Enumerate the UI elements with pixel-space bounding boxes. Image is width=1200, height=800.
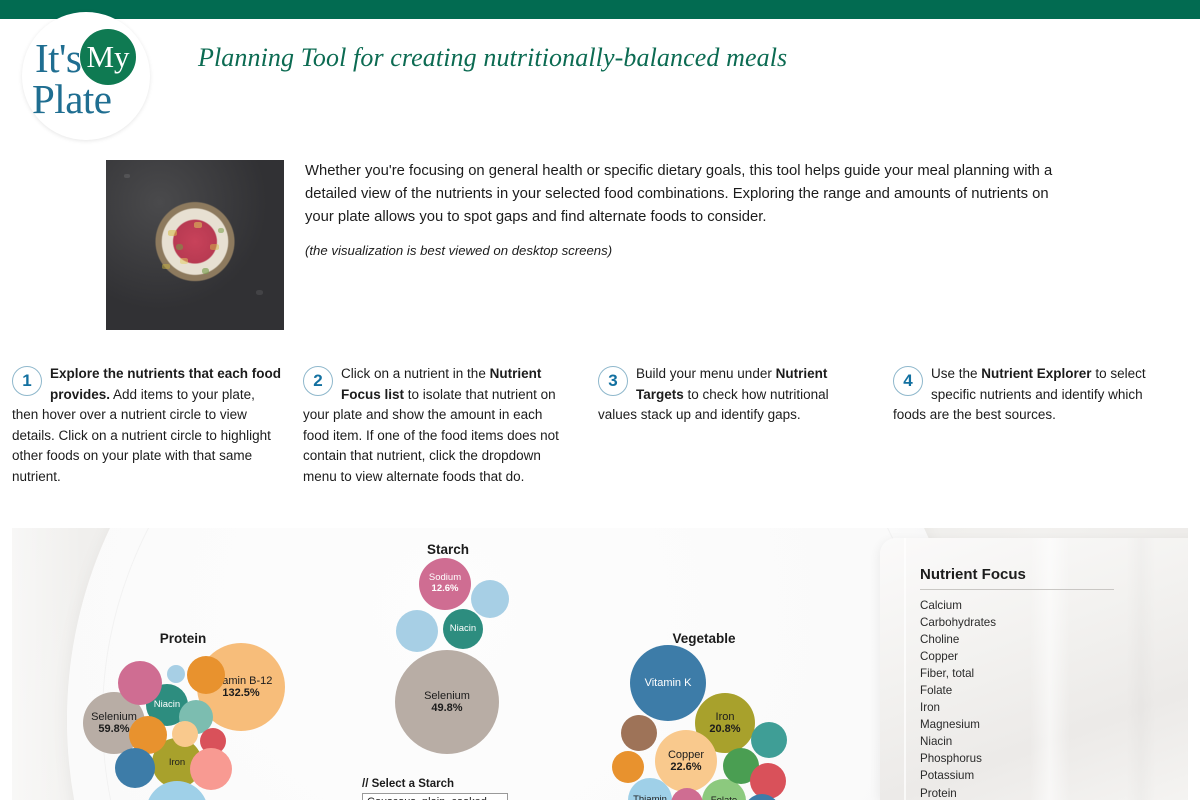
bubble-value: 20.8% bbox=[709, 723, 740, 735]
step-4-number: 4 bbox=[893, 366, 923, 396]
step-3-rest: to check how nutritional values stack up… bbox=[598, 387, 829, 423]
step-2: 2 Click on a nutrient in the Nutrient Fo… bbox=[303, 364, 569, 487]
nutrient-pink[interactable] bbox=[118, 661, 162, 705]
top-accent-bar bbox=[0, 0, 1200, 19]
cluster-label-vegetable: Vegetable bbox=[644, 631, 764, 646]
nutrient-focus-item[interactable]: Copper bbox=[920, 645, 1120, 662]
nutrient-salmon[interactable] bbox=[190, 748, 232, 790]
step-4-pre: Use the bbox=[931, 366, 981, 381]
step-1: 1 Explore the nutrients that each food p… bbox=[12, 364, 284, 487]
nutrient-lightblue-l[interactable] bbox=[396, 610, 438, 652]
step-4-text: Use the Nutrient Explorer to select spec… bbox=[893, 364, 1165, 426]
starch-select-value: Couscous, plain, cooked bbox=[367, 796, 495, 800]
brand-logo[interactable]: It's My Plate bbox=[22, 12, 150, 140]
nutrient-teal-v[interactable] bbox=[751, 722, 787, 758]
nutrient-focus-item[interactable]: Niacin bbox=[920, 731, 1120, 748]
step-4: 4 Use the Nutrient Explorer to select sp… bbox=[893, 364, 1165, 426]
nutrient-focus-item[interactable]: Folate bbox=[920, 679, 1120, 696]
cluster-label-protein: Protein bbox=[123, 631, 243, 646]
bubble-label: Vitamin K bbox=[645, 677, 692, 689]
bubble-niacin[interactable]: Niacin bbox=[443, 609, 483, 649]
nutrient-orange-v[interactable] bbox=[612, 751, 644, 783]
step-3-text: Build your menu under Nutrient Targets t… bbox=[598, 364, 860, 426]
nutrient-focus-item[interactable]: Phosphorus bbox=[920, 748, 1120, 765]
nutrient-brown[interactable] bbox=[621, 715, 657, 751]
nutrient-red-v[interactable] bbox=[750, 763, 786, 799]
page-root: It's My Plate Planning Tool for creating… bbox=[0, 0, 1200, 800]
step-1-number: 1 bbox=[12, 366, 42, 396]
cluster-label-starch: Starch bbox=[388, 542, 508, 557]
nutrient-focus-item[interactable]: Magnesium bbox=[920, 714, 1120, 731]
nutrient-focus-item[interactable]: Choline bbox=[920, 628, 1120, 645]
bubble-sodium[interactable]: Sodium12.6% bbox=[419, 558, 471, 610]
nutrient-focus-item[interactable]: Protein bbox=[920, 782, 1120, 799]
bubble-label: Folate bbox=[711, 796, 737, 800]
bubble-label: Selenium bbox=[91, 711, 137, 723]
step-1-text: Explore the nutrients that each food pro… bbox=[12, 364, 284, 487]
bubble-value: 59.8% bbox=[98, 723, 129, 735]
bubble-selenium[interactable]: Selenium49.8% bbox=[395, 650, 499, 754]
intro-paragraph: Whether you're focusing on general healt… bbox=[305, 160, 1053, 229]
page-title: Planning Tool for creating nutritionally… bbox=[198, 43, 787, 73]
bubble-value: 132.5% bbox=[222, 687, 259, 699]
starch-selector-label: // Select a Starch bbox=[362, 778, 454, 790]
bubble-label: Iron bbox=[716, 711, 735, 723]
nutrient-focus-list[interactable]: CalciumCarbohydratesCholineCopperFiber, … bbox=[920, 594, 1120, 800]
nutrient-focus-item[interactable]: Fiber, total bbox=[920, 662, 1120, 679]
nutrient-focus-item[interactable]: Potassium bbox=[920, 765, 1120, 782]
bubble-label: Niacin bbox=[154, 700, 180, 711]
nutrient-focus-divider bbox=[920, 589, 1114, 590]
step-3-pre: Build your menu under bbox=[636, 366, 776, 381]
step-2-number: 2 bbox=[303, 366, 333, 396]
nutrient-orange-top[interactable] bbox=[187, 656, 225, 694]
nutrient-focus-title: Nutrient Focus bbox=[920, 566, 1026, 583]
starch-select[interactable]: Couscous, plain, cooked ▼ bbox=[362, 793, 508, 800]
bubble-label: Iron bbox=[169, 758, 185, 769]
bubble-value: 49.8% bbox=[431, 702, 462, 714]
nutrient-peach[interactable] bbox=[172, 721, 198, 747]
nutrient-focus-item[interactable]: Calcium bbox=[920, 594, 1120, 611]
bubble-value: 22.6% bbox=[670, 761, 701, 773]
bubble-label: Selenium bbox=[424, 690, 470, 702]
bubble-label: Niacin bbox=[450, 624, 476, 635]
hero-food-photo bbox=[106, 160, 284, 330]
step-4-lead: Nutrient Explorer bbox=[981, 366, 1091, 381]
intro-note: (the visualization is best viewed on des… bbox=[305, 243, 1005, 258]
logo-text-plate: Plate bbox=[32, 75, 111, 123]
nutrient-focus-item[interactable]: Carbohydrates bbox=[920, 611, 1120, 628]
bubble-value: 12.6% bbox=[432, 584, 459, 595]
bubble-label: Copper bbox=[668, 749, 704, 761]
step-2-text: Click on a nutrient in the Nutrient Focu… bbox=[303, 364, 569, 487]
step-3: 3 Build your menu under Nutrient Targets… bbox=[598, 364, 860, 426]
nutrient-focus-item[interactable]: Iron bbox=[920, 697, 1120, 714]
steps-row: 1 Explore the nutrients that each food p… bbox=[0, 364, 1200, 494]
nutrient-steelblue[interactable] bbox=[115, 748, 155, 788]
logo-text-my: My bbox=[80, 39, 136, 75]
nutrient-lightblue-r[interactable] bbox=[471, 580, 509, 618]
nutrient-lightblue-sm[interactable] bbox=[167, 665, 185, 683]
step-3-number: 3 bbox=[598, 366, 628, 396]
bubble-vitamin-k[interactable]: Vitamin K bbox=[630, 645, 706, 721]
bubble-label: Thiamin bbox=[633, 795, 667, 800]
step-2-pre: Click on a nutrient in the bbox=[341, 366, 490, 381]
